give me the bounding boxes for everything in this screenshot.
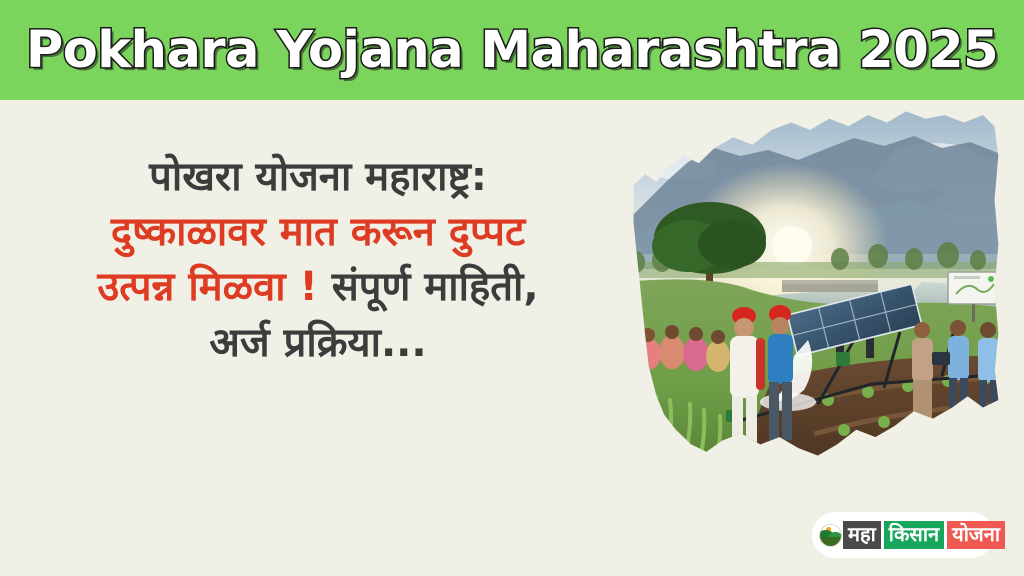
headline-block: पोखरा योजना महाराष्ट्र: दुष्काळावर मात क… <box>18 150 618 371</box>
logo-word-maha: महा <box>843 521 881 549</box>
headline-line-3-red: उत्पन्न मिळवा ! <box>97 264 317 310</box>
maha-kisan-emblem-icon <box>819 524 842 547</box>
logo-word-kisan: किसान <box>884 521 944 549</box>
hero-photo <box>622 104 1006 474</box>
headline-line-4: अर्ज प्रक्रिया... <box>18 316 618 371</box>
promo-banner: Pokhara Yojana Maharashtra 2025 पोखरा यो… <box>0 0 1024 576</box>
logo-word-yojana: योजना <box>947 521 1005 549</box>
headline-line-3: उत्पन्न मिळवा ! संपूर्ण माहिती, <box>18 260 618 315</box>
hero-photo-torn-frame <box>622 104 1006 474</box>
farm-scene-illustration <box>622 104 1006 474</box>
page-title: Pokhara Yojana Maharashtra 2025 <box>0 0 1024 100</box>
brand-logo[interactable]: महा किसान योजना <box>812 512 994 558</box>
headline-line-2: दुष्काळावर मात करून दुप्पट <box>18 205 618 260</box>
headline-line-3-dark: संपूर्ण माहिती, <box>318 264 539 310</box>
headline-line-1: पोखरा योजना महाराष्ट्र: <box>18 150 618 205</box>
